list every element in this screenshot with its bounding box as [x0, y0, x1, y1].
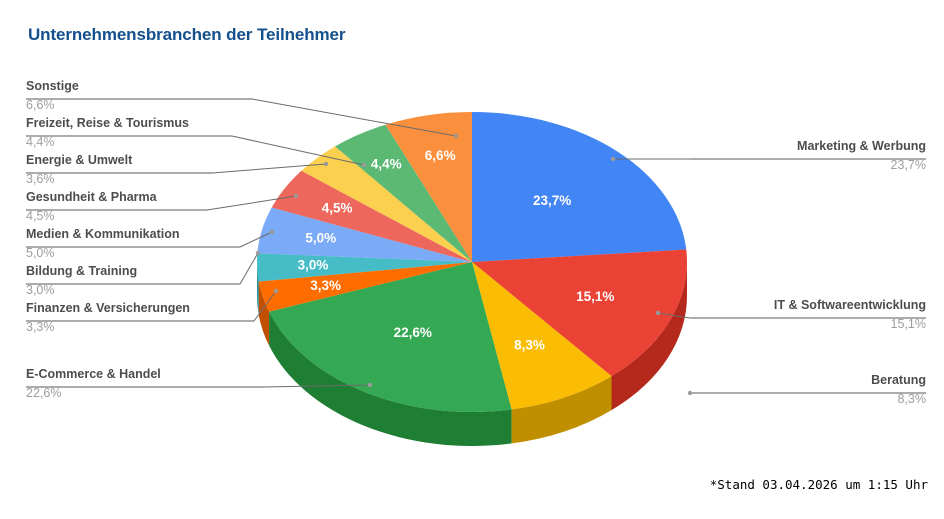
- leader-dot: [270, 230, 274, 234]
- callout-it-softwareentwicklung: IT & Softwareentwicklung 15,1%: [774, 299, 926, 330]
- callout-category-label: Sonstige: [26, 80, 79, 96]
- pie-slice-value-label: 3,3%: [310, 278, 341, 293]
- pie-chart-page: Unternehmensbranchen der Teilnehmer 23,7…: [0, 0, 944, 519]
- callout-ecommerce-handel: E-Commerce & Handel 22,6%: [26, 368, 161, 399]
- leader-dot: [368, 383, 372, 387]
- leader-dot: [454, 134, 458, 138]
- pie-slice-value-label: 5,0%: [305, 231, 336, 246]
- callout-category-label: Medien & Kommunikation: [26, 228, 179, 244]
- pie-chart-graphic: 23,7%15,1%8,3%22,6%3,3%3,0%5,0%4,5%4,4%6…: [0, 0, 944, 519]
- callout-category-label: Freizeit, Reise & Tourismus: [26, 117, 189, 133]
- pie-slice-value-label: 8,3%: [514, 337, 545, 352]
- callout-marketing-werbung: Marketing & Werbung 23,7%: [797, 140, 926, 171]
- pie-slice-value-label: 4,5%: [322, 201, 353, 216]
- pie-slice-value-label: 4,4%: [371, 157, 402, 172]
- callout-gesundheit-pharma: Gesundheit & Pharma 4,5%: [26, 191, 157, 222]
- leader-dot: [362, 163, 366, 167]
- pie-slice-value-label: 23,7%: [533, 193, 571, 208]
- pie-slice-value-label: 22,6%: [394, 325, 432, 340]
- callout-sonstige: Sonstige 6,6%: [26, 80, 79, 111]
- leader-dot: [611, 157, 615, 161]
- callout-value-label: 23,7%: [797, 156, 926, 172]
- callout-medien-kommunikation: Medien & Kommunikation 5,0%: [26, 228, 179, 259]
- pie-slice-value-label: 15,1%: [576, 289, 614, 304]
- callout-finanzen-versicherungen: Finanzen & Versicherungen 3,3%: [26, 302, 190, 333]
- callout-value-label: 15,1%: [774, 315, 926, 331]
- callout-value-label: 3,6%: [26, 170, 132, 186]
- callout-value-label: 4,5%: [26, 207, 157, 223]
- leader-dot: [656, 311, 660, 315]
- callout-freizeit-reise-tourismus: Freizeit, Reise & Tourismus 4,4%: [26, 117, 189, 148]
- leader-dot: [324, 162, 328, 166]
- callout-value-label: 6,6%: [26, 96, 79, 112]
- callout-energie-umwelt: Energie & Umwelt 3,6%: [26, 154, 132, 185]
- callout-value-label: 4,4%: [26, 133, 189, 149]
- leader-dot: [256, 251, 260, 255]
- callout-category-label: E-Commerce & Handel: [26, 368, 161, 384]
- leader-dot: [688, 391, 692, 395]
- pie-slice-value-label: 6,6%: [425, 148, 456, 163]
- callout-beratung: Beratung 8,3%: [871, 374, 926, 405]
- callout-value-label: 8,3%: [871, 390, 926, 406]
- callout-category-label: Gesundheit & Pharma: [26, 191, 157, 207]
- callout-category-label: Beratung: [871, 374, 926, 390]
- callout-category-label: Energie & Umwelt: [26, 154, 132, 170]
- callout-category-label: IT & Softwareentwicklung: [774, 299, 926, 315]
- leader-dot: [294, 194, 298, 198]
- callout-category-label: Marketing & Werbung: [797, 140, 926, 156]
- callout-value-label: 3,0%: [26, 281, 137, 297]
- callout-value-label: 22,6%: [26, 384, 161, 400]
- leader-dot: [274, 289, 278, 293]
- callout-category-label: Finanzen & Versicherungen: [26, 302, 190, 318]
- callout-value-label: 3,3%: [26, 318, 190, 334]
- callout-category-label: Bildung & Training: [26, 265, 137, 281]
- footnote-timestamp: *Stand 03.04.2026 um 1:15 Uhr: [710, 477, 928, 492]
- pie-slice-value-label: 3,0%: [298, 258, 329, 273]
- callout-bildung-training: Bildung & Training 3,0%: [26, 265, 137, 296]
- pie-slice[interactable]: [472, 112, 686, 262]
- callout-value-label: 5,0%: [26, 244, 179, 260]
